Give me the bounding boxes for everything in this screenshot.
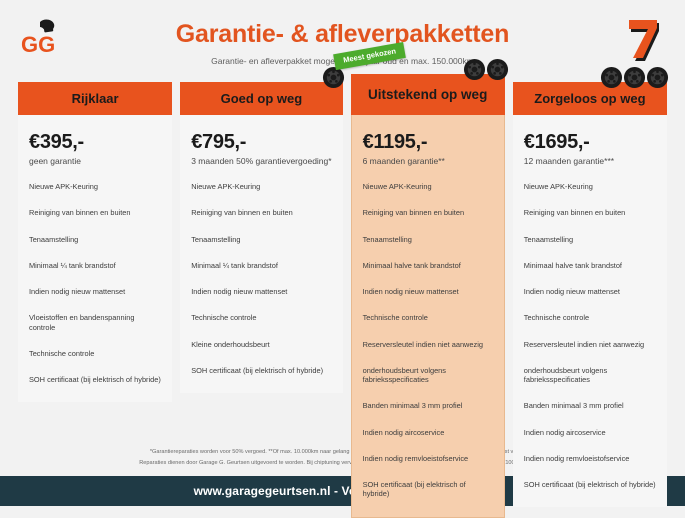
feature-item: Reiniging van binnen en buiten [29, 208, 161, 217]
pricing-poster: GG Garantie- & afleverpakketten Garantie… [0, 0, 685, 514]
feature-item: Reiniging van binnen en buiten [191, 208, 331, 217]
feature-item: Indien nodig aircoservice [363, 428, 493, 437]
feature-item: Indien nodig remvloeistofservice [524, 454, 656, 463]
feature-item: Technische controle [524, 313, 656, 322]
feature-item: Minimaal ¼ tank brandstof [29, 261, 161, 270]
feature-item: SOH certificaat (bij elektrisch of hybri… [524, 480, 656, 489]
package-warranty: 12 maanden garantie*** [524, 156, 656, 166]
feature-item: Technische controle [29, 349, 161, 358]
feature-item: Vloeistoffen en bandenspanning controle [29, 313, 161, 332]
feature-item: Indien nodig nieuw mattenset [363, 287, 493, 296]
feature-item: Tenaamstelling [29, 235, 161, 244]
feature-item: Kleine onderhoudsbeurt [191, 340, 331, 349]
feature-item: Technische controle [191, 313, 331, 322]
package-warranty: 3 maanden 50% garantievergoeding* [191, 156, 331, 166]
seven-logo-icon [619, 12, 667, 62]
feature-item: Indien nodig nieuw mattenset [29, 287, 161, 296]
tire-icon [322, 66, 345, 89]
feature-item: Indien nodig nieuw mattenset [191, 287, 331, 296]
feature-item: Nieuwe APK-Keuring [524, 182, 656, 191]
feature-item: Reiniging van binnen en buiten [524, 208, 656, 217]
feature-item: Tenaamstelling [524, 235, 656, 244]
package-title: Goed op weg [180, 82, 342, 115]
feature-item: onderhoudsbeurt volgens fabrieksspecific… [524, 366, 656, 385]
feature-item: Minimaal ¼ tank brandstof [191, 261, 331, 270]
feature-item: SOH certificaat (bij elektrisch of hybri… [363, 480, 493, 499]
package-body: €795,- 3 maanden 50% garantievergoeding*… [180, 115, 342, 393]
feature-item: Banden minimaal 3 mm profiel [524, 401, 656, 410]
package-body: €395,- geen garantie Nieuwe APK-Keuring … [18, 115, 172, 402]
tire-icon [486, 58, 509, 81]
tire-icon [646, 66, 669, 89]
feature-item: SOH certificaat (bij elektrisch of hybri… [191, 366, 331, 375]
feature-item: Indien nodig aircoservice [524, 428, 656, 437]
package-body: €1195,- 6 maanden garantie** Nieuwe APK-… [351, 115, 505, 518]
feature-item: Minimaal halve tank brandstof [524, 261, 656, 270]
feature-item: Technische controle [363, 313, 493, 322]
feature-item: Tenaamstelling [363, 235, 493, 244]
feature-item: SOH certificaat (bij elektrisch of hybri… [29, 375, 161, 384]
feature-item: Nieuwe APK-Keuring [191, 182, 331, 191]
package-card-uitstekend-op-weg[interactable]: Meest gekozen [351, 74, 505, 518]
feature-item: Reserversleutel indien niet aanwezig [524, 340, 656, 349]
feature-item: Nieuwe APK-Keuring [29, 182, 161, 191]
feature-item: Tenaamstelling [191, 235, 331, 244]
package-title: Rijklaar [18, 82, 172, 115]
package-card-zorgeloos-op-weg[interactable]: Zorgeloos op weg €1695,- 12 maanden gara… [513, 82, 667, 507]
package-warranty: geen garantie [29, 156, 161, 166]
tire-icon [600, 66, 623, 89]
feature-item: Indien nodig nieuw mattenset [524, 287, 656, 296]
package-price: €395,- [29, 131, 161, 154]
tire-rating-group [322, 66, 345, 89]
feature-item: Nieuwe APK-Keuring [363, 182, 493, 191]
tire-rating-group [463, 58, 509, 81]
package-card-goed-op-weg[interactable]: Goed op weg €795,- 3 maanden 50% garanti… [180, 82, 342, 393]
package-price: €1195,- [363, 131, 493, 154]
feature-item: Minimaal halve tank brandstof [363, 261, 493, 270]
package-warranty: 6 maanden garantie** [363, 156, 493, 166]
feature-item: Banden minimaal 3 mm profiel [363, 401, 493, 410]
feature-item: Indien nodig remvloeistofservice [363, 454, 493, 463]
tire-rating-group [600, 66, 669, 89]
package-body: €1695,- 12 maanden garantie*** Nieuwe AP… [513, 115, 667, 507]
feature-item: Reiniging van binnen en buiten [363, 208, 493, 217]
page-title: Garantie- & afleverpakketten [0, 20, 685, 49]
tire-icon [463, 58, 486, 81]
tire-icon [623, 66, 646, 89]
package-price: €1695,- [524, 131, 656, 154]
feature-item: Reserversleutel indien niet aanwezig [363, 340, 493, 349]
package-card-rijklaar[interactable]: Rijklaar €395,- geen garantie Nieuwe APK… [18, 82, 172, 402]
feature-item: onderhoudsbeurt volgens fabrieksspecific… [363, 366, 493, 385]
package-price: €795,- [191, 131, 331, 154]
